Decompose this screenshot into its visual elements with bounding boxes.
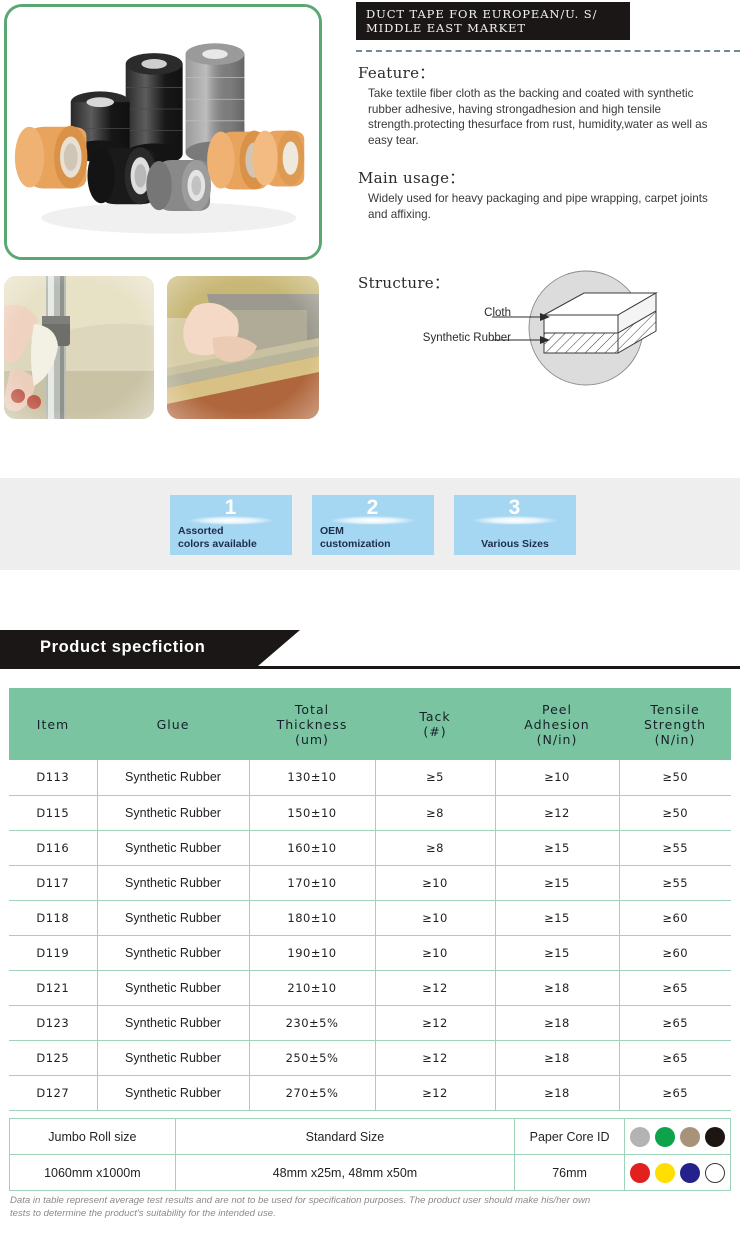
column-header-item: Item xyxy=(9,688,97,760)
table-row: D121Synthetic Rubber210±10≥12≥18≥65 xyxy=(9,970,731,1005)
size-table-header-row: Jumbo Roll size Standard Size Paper Core… xyxy=(10,1119,731,1155)
table-cell-thick: 150±10 xyxy=(249,795,375,830)
table-cell-peel: ≥15 xyxy=(495,900,619,935)
column-header-peel-adhesion: PeelAdhesion(N/in) xyxy=(495,688,619,760)
feature-box-2-caption: OEMcustomization xyxy=(312,525,434,550)
table-cell-tack: ≥12 xyxy=(375,1075,495,1110)
feature-box-3-number: 3 xyxy=(454,497,576,518)
glow-ellipse-icon xyxy=(188,516,274,525)
table-cell-thick: 130±10 xyxy=(249,760,375,795)
feature-boxes: 1 Assortedcolors available 2 OEMcustomiz… xyxy=(170,495,576,555)
main-usage-heading: Main usage： xyxy=(358,167,465,188)
color-swatch-navy xyxy=(680,1163,700,1183)
table-cell-peel: ≥15 xyxy=(495,935,619,970)
color-swatch-white xyxy=(705,1163,725,1183)
table-cell-item: D123 xyxy=(9,1005,97,1040)
application-photo-pipe-wrapping xyxy=(4,276,154,419)
table-cell-thick: 230±5% xyxy=(249,1005,375,1040)
table-cell-glue: Synthetic Rubber xyxy=(97,1075,249,1110)
feature-text: Take textile fiber cloth as the backing … xyxy=(368,86,728,148)
table-cell-item: D113 xyxy=(9,760,97,795)
hero-section: DUCT TAPE FOR EUROPEAN/U. S/ MIDDLE EAST… xyxy=(0,0,740,430)
glow-ellipse-icon xyxy=(472,516,558,525)
table-cell-glue: Synthetic Rubber xyxy=(97,865,249,900)
table-cell-thick: 250±5% xyxy=(249,1040,375,1075)
table-cell-thick: 190±10 xyxy=(249,935,375,970)
color-swatches-row-2 xyxy=(624,1155,730,1191)
table-cell-tens: ≥50 xyxy=(619,760,731,795)
structure-diagram: Cloth Synthetic Rubber xyxy=(356,255,740,405)
table-cell-tack: ≥5 xyxy=(375,760,495,795)
table-cell-tack: ≥10 xyxy=(375,900,495,935)
pipe-wrapping-image xyxy=(4,276,154,419)
product-specification-header: Product specfiction xyxy=(0,630,740,670)
table-row: D119Synthetic Rubber190±10≥10≥15≥60 xyxy=(9,935,731,970)
feature-box-1: 1 Assortedcolors available xyxy=(170,495,292,555)
table-row: D113Synthetic Rubber130±10≥5≥10≥50 xyxy=(9,760,731,795)
column-header-tack: Tack(#) xyxy=(375,688,495,760)
color-swatch-tan xyxy=(680,1127,700,1147)
table-cell-peel: ≥18 xyxy=(495,970,619,1005)
table-cell-tack: ≥10 xyxy=(375,865,495,900)
structure-label-cloth: Cloth xyxy=(381,307,511,319)
table-cell-item: D118 xyxy=(9,900,97,935)
product-title-line2: MIDDLE EAST MARKET xyxy=(366,21,526,35)
table-cell-tens: ≥60 xyxy=(619,935,731,970)
table-cell-tens: ≥60 xyxy=(619,900,731,935)
table-cell-tens: ≥65 xyxy=(619,1075,731,1110)
column-header-total-thickness: TotalThickness(um) xyxy=(249,688,375,760)
table-cell-tack: ≥12 xyxy=(375,1040,495,1075)
table-cell-peel: ≥18 xyxy=(495,1005,619,1040)
table-row: D115Synthetic Rubber150±10≥8≥12≥50 xyxy=(9,795,731,830)
table-cell-tack: ≥8 xyxy=(375,830,495,865)
table-cell-tens: ≥65 xyxy=(619,1005,731,1040)
table-cell-tens: ≥55 xyxy=(619,865,731,900)
table-cell-glue: Synthetic Rubber xyxy=(97,1005,249,1040)
color-swatch-red xyxy=(630,1163,650,1183)
feature-box-1-number: 1 xyxy=(170,497,292,518)
table-cell-thick: 270±5% xyxy=(249,1075,375,1110)
table-cell-peel: ≥10 xyxy=(495,760,619,795)
size-header-standard-size: Standard Size xyxy=(175,1119,514,1155)
table-cell-glue: Synthetic Rubber xyxy=(97,760,249,795)
application-photo-sink-edge xyxy=(167,276,319,419)
product-info-column: DUCT TAPE FOR EUROPEAN/U. S/ MIDDLE EAST… xyxy=(356,0,740,430)
table-row: D123Synthetic Rubber230±5%≥12≥18≥65 xyxy=(9,1005,731,1040)
structure-label-synthetic-rubber: Synthetic Rubber xyxy=(356,332,511,344)
color-swatches-row-1 xyxy=(624,1119,730,1155)
sink-edge-image xyxy=(167,276,319,419)
color-swatch-green xyxy=(655,1127,675,1147)
column-header-glue: Glue xyxy=(97,688,249,760)
size-table-value-row: 1060mm x1000m 48mm x25m, 48mm x50m 76mm xyxy=(10,1155,731,1191)
product-title-line1: DUCT TAPE FOR EUROPEAN/U. S/ xyxy=(366,7,597,21)
spec-header-rule xyxy=(0,666,740,669)
table-row: D116Synthetic Rubber160±10≥8≥15≥55 xyxy=(9,830,731,865)
feature-box-2-number: 2 xyxy=(312,497,434,518)
dashed-divider xyxy=(356,50,740,52)
color-swatch-yellow xyxy=(655,1163,675,1183)
table-cell-tack: ≥8 xyxy=(375,795,495,830)
table-cell-peel: ≥18 xyxy=(495,1075,619,1110)
table-cell-thick: 180±10 xyxy=(249,900,375,935)
table-row: D125Synthetic Rubber250±5%≥12≥18≥65 xyxy=(9,1040,731,1075)
feature-box-3: 3 Various Sizes xyxy=(454,495,576,555)
color-swatch-black xyxy=(705,1127,725,1147)
feature-highlight-band: 1 Assortedcolors available 2 OEMcustomiz… xyxy=(0,478,740,570)
glow-ellipse-icon xyxy=(330,516,416,525)
spec-header-label: Product specfiction xyxy=(40,638,205,657)
table-cell-tens: ≥50 xyxy=(619,795,731,830)
disclaimer-note: Data in table represent average test res… xyxy=(10,1194,610,1220)
table-cell-tens: ≥55 xyxy=(619,830,731,865)
table-cell-glue: Synthetic Rubber xyxy=(97,935,249,970)
specification-table: Item Glue TotalThickness(um) Tack(#) Pee… xyxy=(9,688,731,1111)
table-cell-tens: ≥65 xyxy=(619,1040,731,1075)
table-cell-item: D121 xyxy=(9,970,97,1005)
table-cell-item: D115 xyxy=(9,795,97,830)
table-cell-tack: ≥10 xyxy=(375,935,495,970)
table-cell-item: D125 xyxy=(9,1040,97,1075)
size-value-standard-size: 48mm x25m, 48mm x50m xyxy=(175,1155,514,1191)
table-cell-glue: Synthetic Rubber xyxy=(97,830,249,865)
table-cell-thick: 170±10 xyxy=(249,865,375,900)
product-title-banner: DUCT TAPE FOR EUROPEAN/U. S/ MIDDLE EAST… xyxy=(356,2,630,40)
table-cell-peel: ≥15 xyxy=(495,865,619,900)
table-cell-thick: 210±10 xyxy=(249,970,375,1005)
feature-box-3-caption: Various Sizes xyxy=(454,538,576,551)
table-cell-tens: ≥65 xyxy=(619,970,731,1005)
table-cell-item: D117 xyxy=(9,865,97,900)
table-cell-thick: 160±10 xyxy=(249,830,375,865)
size-value-jumbo-roll: 1060mm x1000m xyxy=(10,1155,176,1191)
table-cell-item: D119 xyxy=(9,935,97,970)
table-row: D117Synthetic Rubber170±10≥10≥15≥55 xyxy=(9,865,731,900)
product-photo-frame xyxy=(4,4,322,260)
size-header-paper-core-id: Paper Core ID xyxy=(515,1119,625,1155)
table-cell-glue: Synthetic Rubber xyxy=(97,970,249,1005)
size-value-paper-core-id: 76mm xyxy=(515,1155,625,1191)
table-cell-glue: Synthetic Rubber xyxy=(97,1040,249,1075)
table-cell-glue: Synthetic Rubber xyxy=(97,795,249,830)
tape-cross-section-illustration xyxy=(356,255,740,405)
color-swatch-gray xyxy=(630,1127,650,1147)
table-row: D127Synthetic Rubber270±5%≥12≥18≥65 xyxy=(9,1075,731,1110)
table-cell-peel: ≥15 xyxy=(495,830,619,865)
size-header-jumbo-roll: Jumbo Roll size xyxy=(10,1119,176,1155)
table-cell-item: D127 xyxy=(9,1075,97,1110)
feature-box-2: 2 OEMcustomization xyxy=(312,495,434,555)
table-cell-tack: ≥12 xyxy=(375,1005,495,1040)
table-cell-peel: ≥12 xyxy=(495,795,619,830)
table-cell-glue: Synthetic Rubber xyxy=(97,900,249,935)
size-table: Jumbo Roll size Standard Size Paper Core… xyxy=(9,1118,731,1191)
duct-tape-rolls-image xyxy=(7,7,319,258)
table-cell-item: D116 xyxy=(9,830,97,865)
table-row: D118Synthetic Rubber180±10≥10≥15≥60 xyxy=(9,900,731,935)
main-usage-text: Widely used for heavy packaging and pipe… xyxy=(368,191,728,222)
feature-box-1-caption: Assortedcolors available xyxy=(170,525,292,550)
feature-heading: Feature： xyxy=(358,62,435,83)
table-header-row: Item Glue TotalThickness(um) Tack(#) Pee… xyxy=(9,688,731,760)
table-cell-tack: ≥12 xyxy=(375,970,495,1005)
column-header-tensile-strength: TensileStrength(N/in) xyxy=(619,688,731,760)
table-cell-peel: ≥18 xyxy=(495,1040,619,1075)
